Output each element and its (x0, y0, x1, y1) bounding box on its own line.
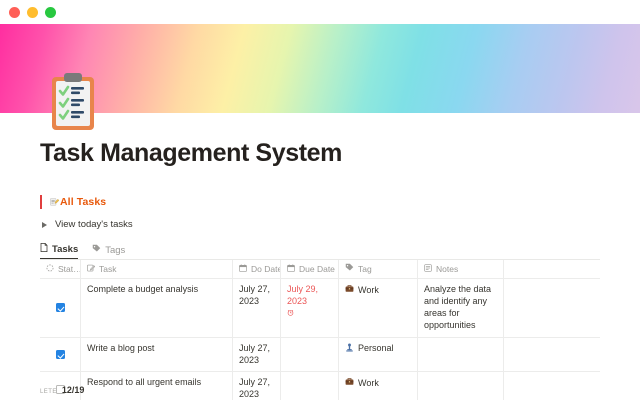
tag-value: Work (358, 285, 379, 297)
table-row[interactable]: Write a blog post July 27, 2023 (40, 338, 600, 373)
chevron-right-icon[interactable] (42, 222, 47, 228)
cell-tag[interactable]: Personal (339, 338, 418, 372)
database-view-tabs: Tasks Tags (40, 241, 600, 259)
column-header-notes-label: Notes (436, 264, 458, 275)
page-body: Task Management System All Tasks View t (0, 139, 640, 400)
cell-tag[interactable]: Work (339, 279, 418, 337)
tag-icon (92, 244, 101, 256)
cell-due-date[interactable]: July 29, 2023 (281, 279, 339, 337)
footer-count: 12/19 (62, 385, 85, 395)
table-row[interactable]: Complete a budget analysis July 27, 2023… (40, 279, 600, 338)
minimize-button-icon[interactable] (27, 7, 38, 18)
column-header-task-label: Task (99, 264, 116, 275)
cell-tag[interactable]: Work (339, 372, 418, 400)
notes-value: Analyze the data and identify any areas … (424, 284, 497, 332)
tag-icon (345, 263, 354, 275)
all-tasks-label: All Tasks (60, 196, 106, 208)
alarm-clock-icon (287, 309, 332, 318)
do-date-value: July 27, 2023 (239, 377, 274, 400)
tab-tags[interactable]: Tags (92, 244, 125, 259)
window-titlebar (0, 0, 640, 24)
person-icon (345, 343, 354, 356)
notes-icon (424, 264, 432, 275)
table-header-row: Stat… Task (40, 260, 600, 279)
tab-tags-label: Tags (105, 245, 125, 256)
tab-tasks-label: Tasks (52, 244, 78, 255)
status-checkbox[interactable] (56, 350, 65, 359)
column-header-due-date-label: Due Date (299, 264, 335, 275)
tasks-table: Stat… Task (40, 259, 600, 400)
task-title: Complete a budget analysis (87, 284, 198, 296)
app-window: Task Management System All Tasks View t (0, 0, 640, 400)
cell-task[interactable]: Complete a budget analysis (81, 279, 233, 337)
cell-due-date[interactable] (281, 372, 339, 400)
cell-notes[interactable]: Analyze the data and identify any areas … (418, 279, 504, 337)
cell-notes[interactable] (418, 338, 504, 372)
cell-blank[interactable] (504, 338, 600, 372)
cell-status[interactable] (40, 279, 81, 337)
view-todays-tasks-toggle[interactable]: View today's tasks (40, 219, 600, 230)
column-header-task[interactable]: Task (81, 260, 233, 278)
cell-blank[interactable] (504, 372, 600, 400)
briefcase-icon (345, 377, 354, 390)
cell-task[interactable]: Write a blog post (81, 338, 233, 372)
column-header-due-date[interactable]: Due Date (281, 260, 339, 278)
column-header-tag-label: Tag (358, 264, 372, 275)
loading-icon (46, 264, 54, 275)
task-title: Write a blog post (87, 343, 154, 355)
cell-notes[interactable] (418, 372, 504, 400)
toggle-label: View today's tasks (55, 219, 133, 230)
column-header-tag[interactable]: Tag (339, 260, 418, 278)
due-date-value: July 29, 2023 (287, 284, 332, 308)
cell-do-date[interactable]: July 27, 2023 (233, 372, 281, 400)
calendar-icon (287, 264, 295, 275)
edit-icon (87, 264, 95, 275)
task-title: Respond to all urgent emails (87, 377, 201, 389)
table-footer: LETE 12/19 (40, 385, 84, 395)
tag-value: Personal (358, 343, 394, 355)
cell-do-date[interactable]: July 27, 2023 (233, 338, 281, 372)
close-button-icon[interactable] (9, 7, 20, 18)
column-header-notes[interactable]: Notes (418, 260, 504, 278)
clipboard-icon[interactable] (48, 72, 98, 132)
footer-label: LETE (40, 389, 57, 395)
do-date-value: July 27, 2023 (239, 284, 274, 308)
column-header-do-date-label: Do Date (251, 264, 281, 275)
cell-due-date[interactable] (281, 338, 339, 372)
cell-status[interactable] (40, 338, 81, 372)
table-row[interactable]: Respond to all urgent emails July 27, 20… (40, 372, 600, 400)
tab-tasks[interactable]: Tasks (40, 243, 78, 259)
calendar-icon (239, 264, 247, 275)
all-tasks-callout[interactable]: All Tasks (40, 195, 600, 209)
do-date-value: July 27, 2023 (239, 343, 274, 367)
memo-icon (50, 193, 59, 211)
page-title: Task Management System (40, 139, 600, 168)
status-checkbox[interactable] (56, 303, 65, 312)
column-header-status[interactable]: Stat… (40, 260, 81, 278)
column-header-blank[interactable] (504, 260, 600, 278)
document-icon (40, 243, 48, 255)
maximize-button-icon[interactable] (45, 7, 56, 18)
column-header-status-label: Stat… (58, 264, 81, 275)
tag-value: Work (358, 378, 379, 390)
cell-task[interactable]: Respond to all urgent emails (81, 372, 233, 400)
briefcase-icon (345, 284, 354, 297)
column-header-do-date[interactable]: Do Date (233, 260, 281, 278)
cell-do-date[interactable]: July 27, 2023 (233, 279, 281, 337)
cell-blank[interactable] (504, 279, 600, 337)
